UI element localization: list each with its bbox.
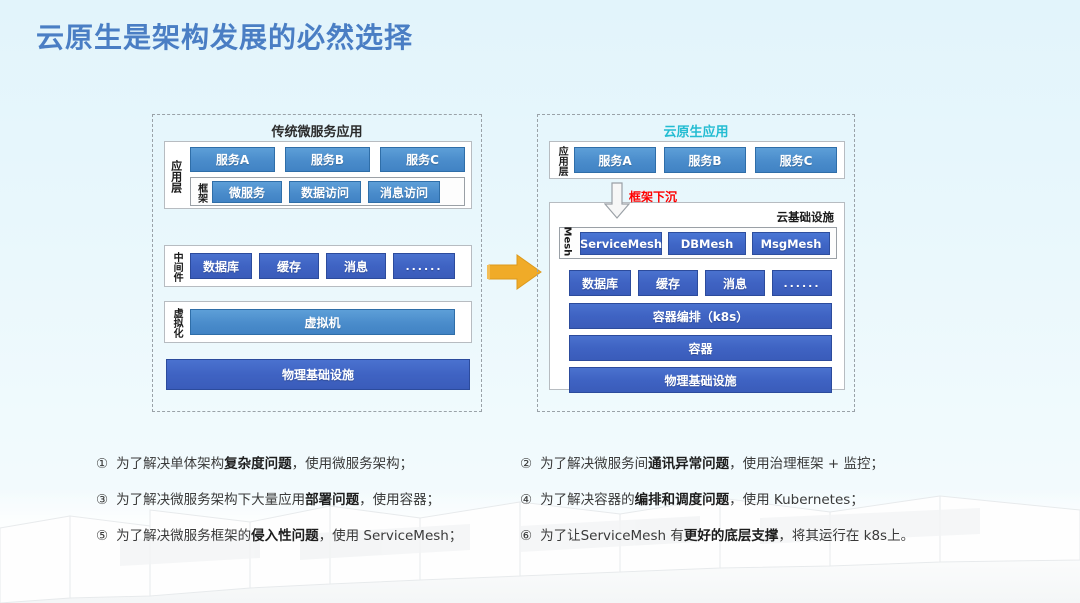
left-middleware-message[interactable]: 消息 <box>326 253 386 279</box>
left-physical-infrastructure[interactable]: 物理基础设施 <box>166 359 470 390</box>
bullet-text-5-post: ，使用 ServiceMesh； <box>319 528 463 544</box>
bullet-text-3-post: ，使用容器； <box>359 492 440 508</box>
traditional-microservice-panel: 传统微服务应用 应用层 服务A 服务B 服务C 框架 微服务 数据访问 消息访问… <box>152 114 482 412</box>
bullet-item-4: ④为了解决容器的编排和调度问题，使用 Kubernetes； <box>520 488 864 508</box>
left-virtualization-box: 虚拟化 虚拟机 <box>164 301 472 343</box>
bullet-text-4-post: ，使用 Kubernetes； <box>729 492 864 508</box>
right-middleware-cache[interactable]: 缓存 <box>638 270 698 296</box>
left-app-layer-box: 应用层 服务A 服务B 服务C 框架 微服务 数据访问 消息访问 <box>164 141 472 209</box>
right-service-a[interactable]: 服务A <box>574 147 656 173</box>
right-app-layer-box: 应用层 服务A 服务B 服务C <box>549 141 845 179</box>
right-app-layer-label: 应用层 <box>554 144 568 178</box>
bullet-item-2: ②为了解决微服务间通讯异常问题，使用治理框架 + 监控； <box>520 452 884 472</box>
bullet-text-2-strong: 通讯异常问题 <box>648 456 729 472</box>
cloud-infrastructure-box: 云基础设施 Mesh ServiceMesh DBMesh MsgMesh 数据… <box>549 202 845 390</box>
bullet-number-4: ④ <box>520 492 532 508</box>
left-virtualization-label: 虚拟化 <box>169 304 183 342</box>
bullet-text-5-pre: 为了解决微服务框架的 <box>116 528 251 544</box>
bullet-text-6-pre: 为了让ServiceMesh 有 <box>540 528 684 544</box>
right-service-c[interactable]: 服务C <box>755 147 837 173</box>
container-orchestration-k8s[interactable]: 容器编排（k8s） <box>569 303 832 329</box>
bullet-number-1: ① <box>96 456 108 472</box>
service-mesh-chip[interactable]: ServiceMesh <box>580 232 662 255</box>
bullet-text-1-strong: 复杂度问题 <box>224 456 292 472</box>
right-arrow-icon <box>487 252 543 292</box>
page-title: 云原生是架构发展的必然选择 <box>36 16 413 56</box>
container-layer[interactable]: 容器 <box>569 335 832 361</box>
bullet-text-5-strong: 侵入性问题 <box>251 528 319 544</box>
left-framework-box: 框架 微服务 数据访问 消息访问 <box>190 177 465 206</box>
left-middleware-more[interactable]: ...... <box>393 253 455 279</box>
cloud-infrastructure-caption: 云基础设施 <box>777 209 835 225</box>
bullet-number-5: ⑤ <box>96 528 108 544</box>
bullet-item-3: ③为了解决微服务架构下大量应用部署问题，使用容器； <box>96 488 440 508</box>
left-service-b[interactable]: 服务B <box>285 147 370 172</box>
down-arrow-icon <box>604 182 630 220</box>
left-middleware-database[interactable]: 数据库 <box>190 253 252 279</box>
left-framework-label: 框架 <box>194 180 207 205</box>
bullet-text-4-strong: 编排和调度问题 <box>635 492 730 508</box>
left-service-a[interactable]: 服务A <box>190 147 275 172</box>
right-middleware-message[interactable]: 消息 <box>705 270 765 296</box>
bullet-item-5: ⑤为了解决微服务框架的侵入性问题，使用 ServiceMesh； <box>96 524 462 544</box>
right-physical-infrastructure[interactable]: 物理基础设施 <box>569 367 832 393</box>
left-app-layer-label: 应用层 <box>169 148 183 204</box>
db-mesh-chip[interactable]: DBMesh <box>668 232 746 255</box>
bullet-number-2: ② <box>520 456 532 472</box>
bullet-item-6: ⑥为了让ServiceMesh 有更好的底层支撑，将其运行在 k8s上。 <box>520 524 914 544</box>
left-framework-microservice[interactable]: 微服务 <box>212 181 282 203</box>
left-panel-title: 传统微服务应用 <box>153 121 481 140</box>
bullet-item-1: ①为了解决单体架构复杂度问题，使用微服务架构； <box>96 452 413 472</box>
right-middleware-more[interactable]: ...... <box>772 270 832 296</box>
bullet-text-3-strong: 部署问题 <box>305 492 359 508</box>
mesh-box: Mesh ServiceMesh DBMesh MsgMesh <box>559 227 837 259</box>
right-service-b[interactable]: 服务B <box>664 147 746 173</box>
right-panel-title: 云原生应用 <box>538 121 854 140</box>
left-middleware-box: 中间件 数据库 缓存 消息 ...... <box>164 245 472 287</box>
bullet-text-2-pre: 为了解决微服务间 <box>540 456 648 472</box>
left-middleware-cache[interactable]: 缓存 <box>259 253 319 279</box>
bullet-number-3: ③ <box>96 492 108 508</box>
bullet-number-6: ⑥ <box>520 528 532 544</box>
bullet-text-6-post: ，将其运行在 k8s上。 <box>778 528 914 544</box>
bullet-text-1-pre: 为了解决单体架构 <box>116 456 224 472</box>
bullet-text-1-post: ，使用微服务架构； <box>292 456 414 472</box>
msg-mesh-chip[interactable]: MsgMesh <box>752 232 830 255</box>
left-virtual-machine[interactable]: 虚拟机 <box>190 309 455 335</box>
bullet-text-6-strong: 更好的底层支撑 <box>684 528 779 544</box>
left-framework-data-access[interactable]: 数据访问 <box>289 181 361 203</box>
left-middleware-label: 中间件 <box>169 248 183 286</box>
bullet-text-2-post: ，使用治理框架 + 监控； <box>729 456 884 472</box>
framework-sink-label: 框架下沉 <box>629 188 677 205</box>
right-middleware-database[interactable]: 数据库 <box>569 270 631 296</box>
left-service-c[interactable]: 服务C <box>380 147 465 172</box>
mesh-label: Mesh <box>562 227 573 257</box>
bullet-text-4-pre: 为了解决容器的 <box>540 492 635 508</box>
left-framework-message-access[interactable]: 消息访问 <box>368 181 440 203</box>
cloud-native-panel: 云原生应用 应用层 服务A 服务B 服务C 云基础设施 Mesh Service… <box>537 114 855 412</box>
bullet-text-3-pre: 为了解决微服务架构下大量应用 <box>116 492 305 508</box>
